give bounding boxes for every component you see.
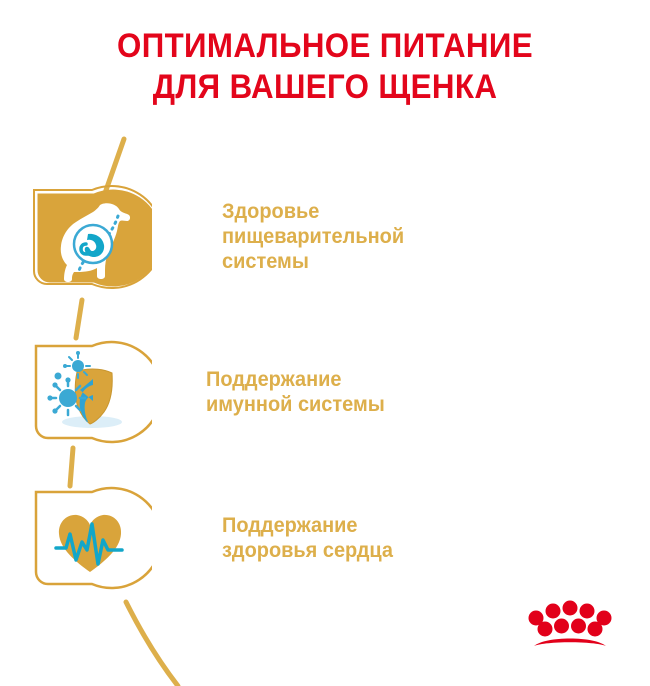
connector-segment-mid-upper xyxy=(76,300,82,338)
benefit-label-digestive: Здоровье пищеварительной системы xyxy=(222,199,404,274)
immune-icon-shield xyxy=(75,369,112,424)
immune-icon-germ-dot xyxy=(55,373,62,380)
benefit-row-digestive: Здоровье пищеварительной системы xyxy=(30,182,414,290)
benefit-row-heart: Поддержание здоровья сердца xyxy=(30,484,402,592)
connector-segment-mid-lower xyxy=(70,448,73,486)
crown-base-arc xyxy=(534,639,606,647)
digestive-icon-highlight-circle xyxy=(74,225,112,263)
benefit-label-heart: Поддержание здоровья сердца xyxy=(222,513,393,563)
title-line-1: ОПТИМАЛЬНОЕ ПИТАНИЕ xyxy=(26,26,624,67)
crown-top-dots xyxy=(529,601,612,626)
page-title: ОПТИМАЛЬНОЕ ПИТАНИЕ ДЛЯ ВАШЕГО ЩЕНКА xyxy=(0,26,650,108)
title-line-2: ДЛЯ ВАШЕГО ЩЕНКА xyxy=(26,67,624,108)
benefit-row-immune: Поддержание имунной системы xyxy=(30,338,394,446)
heart-health-icon xyxy=(30,484,152,592)
poster-root: ОПТИМАЛЬНОЕ ПИТАНИЕ ДЛЯ ВАШЕГО ЩЕНКА xyxy=(0,0,650,686)
immune-support-icon xyxy=(30,338,152,446)
benefit-label-immune: Поддержание имунной системы xyxy=(206,367,385,417)
crown-bottom-dots xyxy=(538,619,603,637)
connector-segment-bottom xyxy=(126,602,178,686)
digestive-health-icon xyxy=(30,182,152,290)
royal-canin-crown-logo xyxy=(524,596,616,652)
